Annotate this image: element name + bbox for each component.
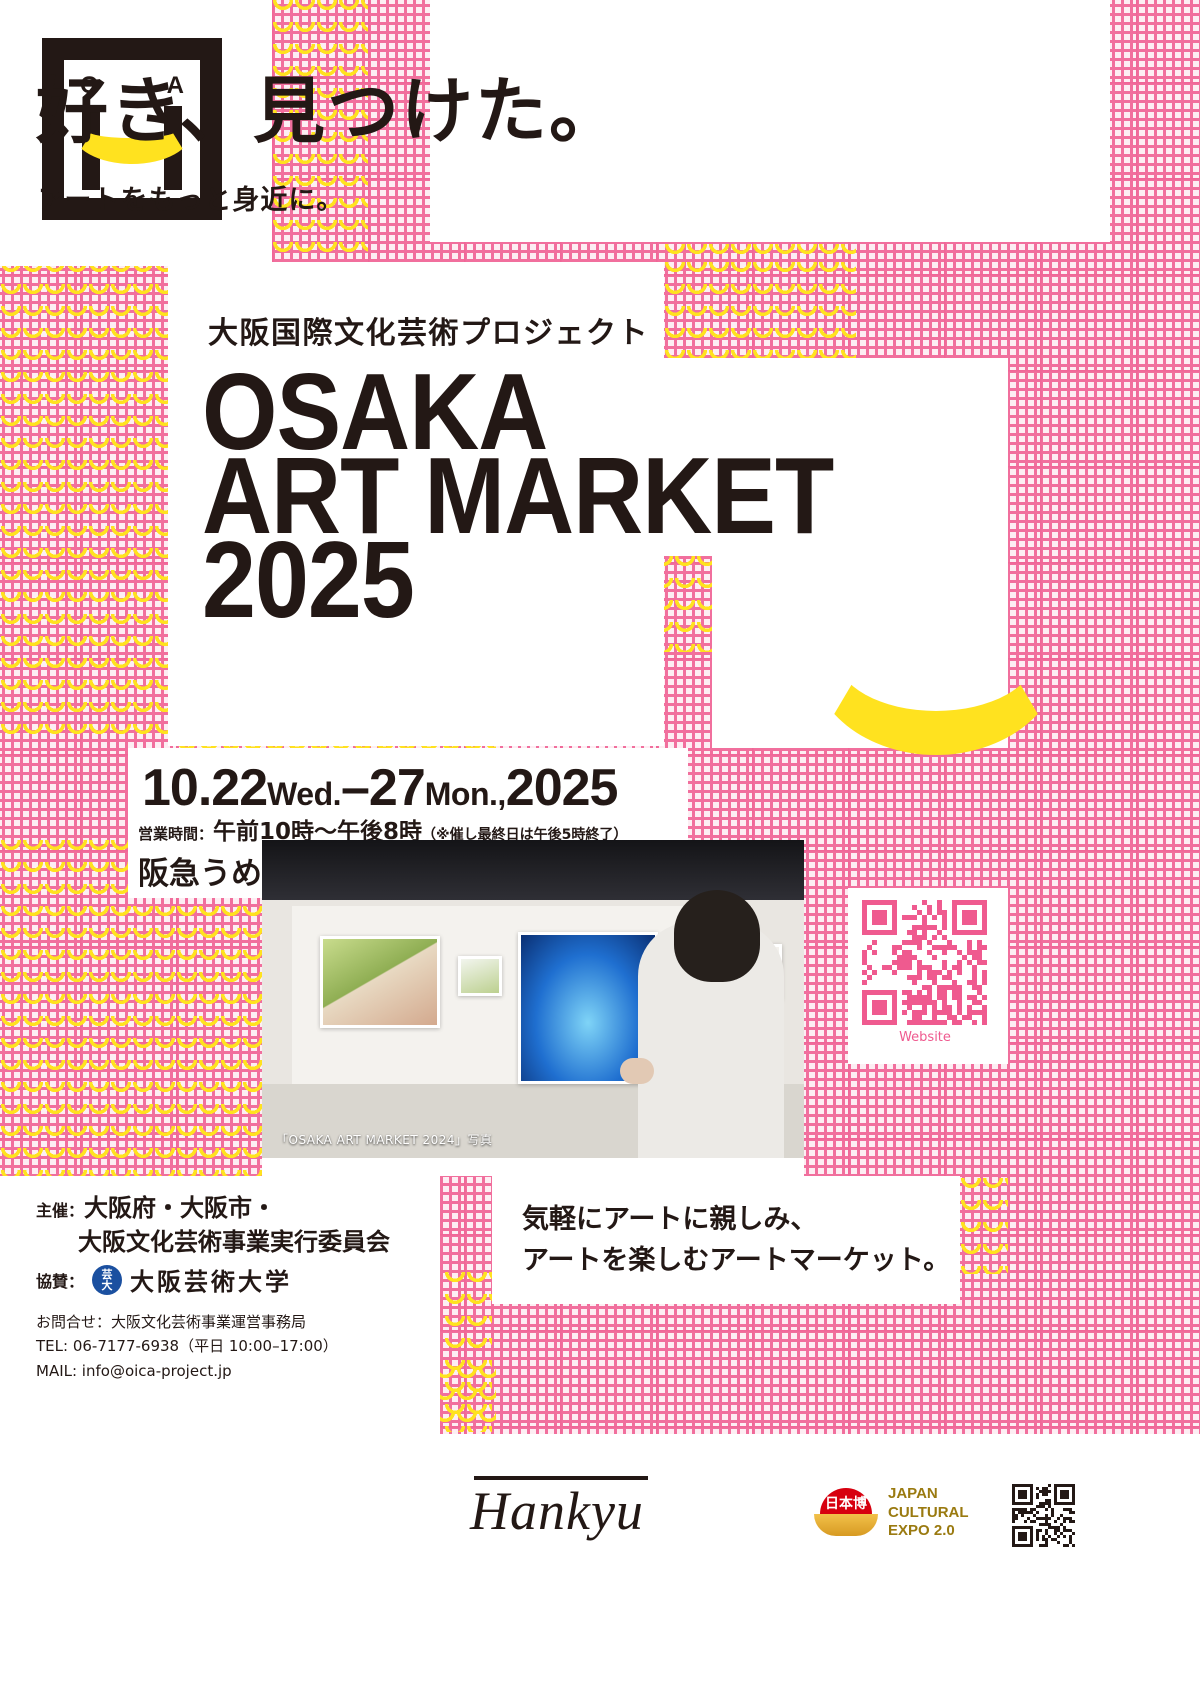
jce-line3: EXPO 2.0 xyxy=(888,1522,969,1541)
organizer-label: 主催： xyxy=(36,1201,84,1220)
smile-pattern-block-3 xyxy=(0,262,168,746)
poster-root: O A 好き、見つけた。 アートをもっと身近に。 大阪国際文化芸術プロジェクト … xyxy=(0,0,1200,1697)
project-name: 大阪国際文化芸術プロジェクト xyxy=(208,308,649,352)
contact-info: お問合せ：大阪文化芸術事業運営事務局 TEL: 06-7177-6938（平日 … xyxy=(36,1310,338,1383)
event-photo: 「OSAKA ART MARKET 2024」写真 xyxy=(262,840,804,1158)
date-year: 2025 xyxy=(506,759,618,817)
osaka-university-of-arts-icon: 芸 大 xyxy=(92,1265,122,1295)
smile-pattern-block-10 xyxy=(960,1178,1008,1274)
photo-artwork-2 xyxy=(458,956,502,996)
date-end-day: Mon., xyxy=(425,776,506,812)
smile-pattern-block-4 xyxy=(664,262,856,358)
contact-office: お問合せ：大阪文化芸術事業運営事務局 xyxy=(36,1310,338,1334)
photo-artwork-1 xyxy=(320,936,440,1028)
photo-visitor-arm xyxy=(620,1058,654,1084)
organizer-line2: 大阪文化芸術事業実行委員会 xyxy=(78,1222,390,1257)
contact-tel: TEL: 06-7177-6938（平日 10:00–17:00） xyxy=(36,1334,338,1358)
footer-qr-code[interactable] xyxy=(1012,1484,1074,1546)
website-qr-label: Website xyxy=(862,1030,988,1045)
photo-visitor-head xyxy=(674,890,760,982)
sponsor-mark-bottom: 大 xyxy=(102,1280,113,1291)
date-start: 10.22 xyxy=(142,759,267,817)
website-qr-code[interactable] xyxy=(862,900,988,1026)
sponsor-mark-top: 芸 xyxy=(102,1269,113,1280)
event-date: 10.22Wed.–27Mon.,2025 xyxy=(142,758,617,818)
sponsor-name: 大阪芸術大学 xyxy=(130,1262,292,1297)
date-end: 27 xyxy=(369,759,425,817)
sponsor-label: 協賛： xyxy=(36,1268,84,1292)
white-band-footer xyxy=(0,1434,1200,1697)
sponsor-row: 協賛： 芸 大 大阪芸術大学 xyxy=(36,1262,292,1297)
date-start-day: Wed. xyxy=(267,776,341,812)
page-headline: 好き、見つけた。 xyxy=(36,52,623,157)
jce-line1: JAPAN xyxy=(888,1485,969,1504)
date-dash: – xyxy=(341,759,369,817)
contact-mail: MAIL: info@oica-project.jp xyxy=(36,1359,338,1383)
hours-label: 営業時間： xyxy=(138,825,213,843)
nihonhaku-kanji: 日本博 xyxy=(825,1493,867,1513)
page-subheadline: アートをもっと身近に。 xyxy=(38,178,344,217)
event-tagline: 気軽にアートに親しみ、 アートを楽しむアートマーケット。 xyxy=(522,1200,950,1281)
jce-text: JAPAN CULTURAL EXPO 2.0 xyxy=(888,1485,969,1541)
gold-wave-icon xyxy=(814,1514,878,1536)
tagline-line2: アートを楽しむアートマーケット。 xyxy=(522,1241,950,1282)
nihonhaku-icon: 日本博 xyxy=(812,1484,880,1542)
tagline-line1: 気軽にアートに親しみ、 xyxy=(522,1200,950,1241)
page-title-line3: 2025 xyxy=(202,532,414,628)
organizer-row: 主催：大阪府・大阪市・ xyxy=(36,1188,276,1223)
organizer-line1: 大阪府・大阪市・ xyxy=(84,1194,276,1222)
japan-cultural-expo-logo: 日本博 JAPAN CULTURAL EXPO 2.0 xyxy=(812,1482,1000,1544)
jce-line2: CULTURAL xyxy=(888,1504,969,1523)
photo-caption: 「OSAKA ART MARKET 2024」写真 xyxy=(276,1131,493,1148)
hankyu-logo: Hankyu xyxy=(470,1480,644,1542)
